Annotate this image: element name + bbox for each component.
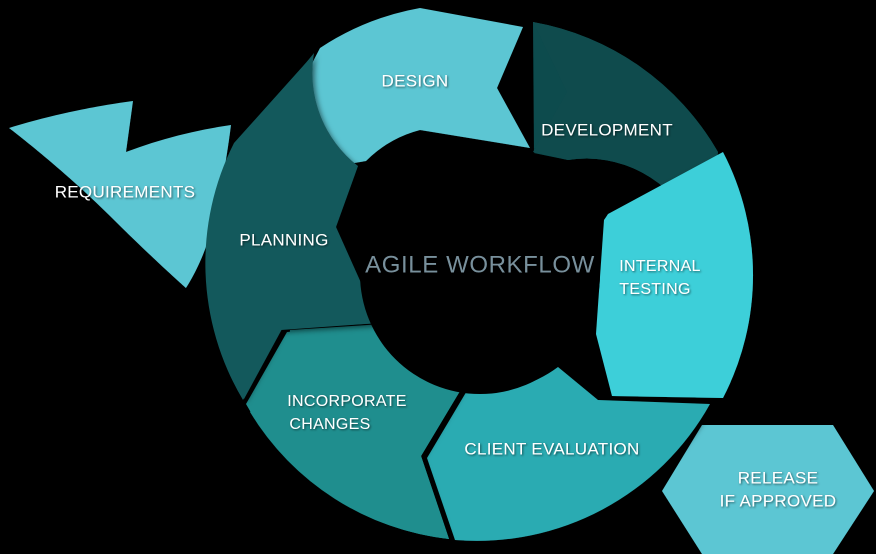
- segment-release-if-approved[interactable]: RELEASE IF APPROVED: [662, 425, 874, 554]
- segment-requirements[interactable]: REQUIREMENTS: [9, 101, 231, 288]
- requirements-label: REQUIREMENTS: [55, 182, 196, 201]
- internal-testing-label-line-1: INTERNAL: [619, 258, 701, 275]
- development-label: DEVELOPMENT: [541, 120, 673, 139]
- client-evaluation-label: CLIENT EVALUATION: [464, 439, 639, 458]
- internal-testing-label-line-2: TESTING: [619, 281, 690, 298]
- design-label: DESIGN: [382, 71, 449, 90]
- release-shape[interactable]: [662, 425, 874, 554]
- diagram-canvas: REQUIREMENTS RELEASE IF APPROVED DESIGN …: [0, 0, 876, 554]
- segment-internal-testing[interactable]: INTERNAL TESTING: [596, 152, 753, 398]
- incorporate-changes-label-line-1: INCORPORATE: [287, 393, 406, 410]
- center-title: AGILE WORKFLOW: [365, 251, 595, 278]
- incorporate-changes-label-line-2: CHANGES: [289, 416, 370, 433]
- release-label-line-2: IF APPROVED: [720, 491, 837, 510]
- release-label-line-1: RELEASE: [738, 468, 819, 487]
- agile-workflow-diagram: REQUIREMENTS RELEASE IF APPROVED DESIGN …: [0, 0, 876, 554]
- planning-label: PLANNING: [239, 230, 328, 249]
